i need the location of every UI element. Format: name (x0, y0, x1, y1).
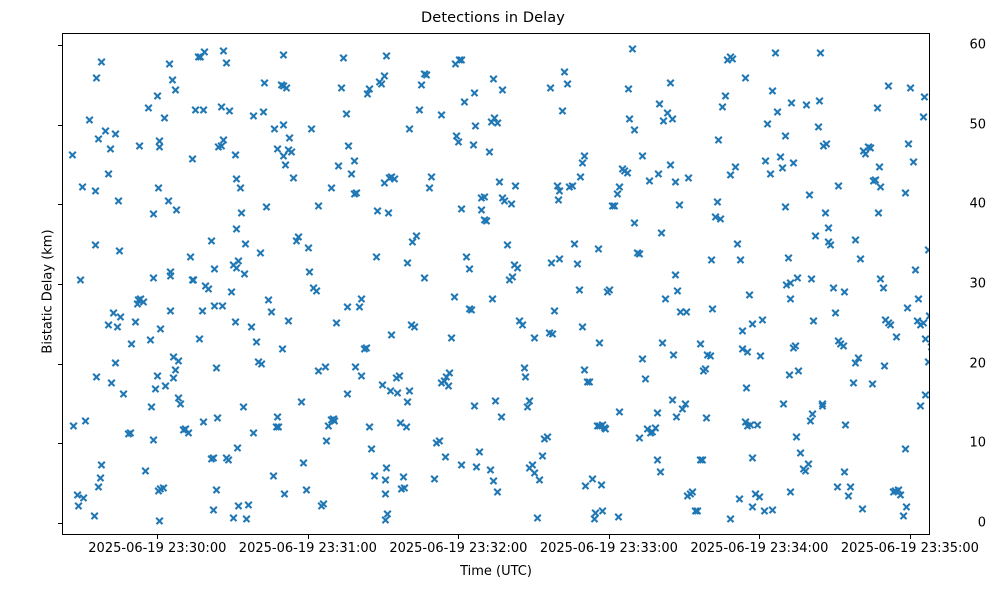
scatter-point (207, 237, 216, 246)
scatter-point (805, 191, 814, 200)
scatter-point (595, 338, 604, 347)
scatter-point (672, 413, 681, 422)
scatter-point (337, 83, 346, 92)
scatter-point (518, 320, 527, 329)
scatter-point (914, 294, 923, 303)
scatter-point (778, 163, 787, 172)
scatter-point (76, 275, 85, 284)
scatter-point (614, 512, 623, 521)
y-tick-label: 30 (942, 277, 986, 292)
scatter-point (171, 85, 180, 94)
scatter-point (437, 110, 446, 119)
scatter-point (372, 253, 381, 262)
scatter-point (231, 317, 240, 326)
scatter-point (736, 255, 745, 264)
scatter-point (728, 54, 737, 63)
scatter-point (269, 471, 278, 480)
scatter-point (390, 175, 399, 184)
scatter-points-layer (63, 34, 929, 534)
scatter-point (332, 318, 341, 327)
scatter-point (793, 273, 802, 282)
scatter-point (104, 169, 113, 178)
scatter-point (330, 417, 339, 426)
scatter-point (873, 103, 882, 112)
scatter-point (212, 485, 221, 494)
scatter-point (229, 513, 238, 522)
scatter-point (924, 245, 930, 254)
scatter-point (74, 501, 83, 510)
scatter-point (658, 338, 667, 347)
scatter-point (485, 147, 494, 156)
scatter-point (422, 70, 431, 79)
scatter-point (776, 152, 785, 161)
scatter-point (624, 84, 633, 93)
scatter-point (921, 390, 930, 399)
scatter-point (274, 422, 283, 431)
scatter-point (236, 183, 245, 192)
scatter-point (174, 393, 183, 402)
scatter-point (400, 484, 409, 493)
scatter-point (573, 260, 582, 269)
scatter-point (681, 399, 690, 408)
scatter-point (472, 462, 481, 471)
scatter-point (111, 129, 120, 138)
scatter-point (782, 281, 791, 290)
y-tick-label: 40 (942, 197, 986, 212)
scatter-point (249, 429, 258, 438)
scatter-point (771, 48, 780, 57)
scatter-point (630, 125, 639, 134)
scatter-point (555, 186, 564, 195)
scatter-point (580, 365, 589, 374)
scatter-point (78, 183, 87, 192)
scatter-point (849, 379, 858, 388)
scatter-point (707, 256, 716, 265)
scatter-point (726, 171, 735, 180)
scatter-point (222, 58, 231, 67)
scatter-point (538, 451, 547, 460)
scatter-point (525, 396, 534, 405)
scatter-point (403, 259, 412, 268)
scatter-point (763, 120, 772, 129)
scatter-point (901, 444, 910, 453)
scatter-point (97, 57, 106, 66)
y-tick-label: 50 (942, 117, 986, 132)
scatter-point (635, 249, 644, 258)
scatter-point (578, 158, 587, 167)
scatter-point (748, 502, 757, 511)
scatter-point (444, 381, 453, 390)
scatter-point (925, 311, 930, 320)
scatter-point (755, 492, 764, 501)
y-tick-mark (58, 443, 62, 444)
scatter-point (119, 390, 128, 399)
scatter-point (470, 88, 479, 97)
scatter-point (841, 421, 850, 430)
scatter-point (73, 490, 82, 499)
scatter-point (809, 316, 818, 325)
scatter-point (242, 515, 251, 524)
scatter-point (585, 378, 594, 387)
scatter-point (454, 137, 463, 146)
scatter-point (533, 513, 542, 522)
scatter-point (733, 239, 742, 248)
x-tick-mark (609, 535, 610, 539)
scatter-point (284, 316, 293, 325)
scatter-point (851, 236, 860, 245)
scatter-point (199, 105, 208, 114)
x-tick-label: 2025-06-19 23:32:00 (389, 541, 527, 556)
scatter-point (668, 395, 677, 404)
scatter-point (758, 316, 767, 325)
y-tick-label: 10 (942, 436, 986, 451)
scatter-point (285, 134, 294, 143)
scatter-point (856, 254, 865, 263)
scatter-point (773, 108, 782, 117)
scatter-point (273, 412, 282, 421)
scatter-point (791, 341, 800, 350)
scatter-point (654, 170, 663, 179)
scatter-point (659, 117, 668, 126)
scatter-point (535, 476, 544, 485)
scatter-point (450, 292, 459, 301)
scatter-point (380, 178, 389, 187)
scatter-point (218, 302, 227, 311)
scatter-point (362, 343, 371, 352)
scatter-point (327, 183, 336, 192)
y-axis-label: Bistatic Delay (km) (41, 202, 56, 382)
scatter-point (219, 47, 228, 56)
scatter-point (116, 312, 125, 321)
scatter-point (210, 264, 219, 273)
scatter-point (713, 197, 722, 206)
scatter-point (347, 169, 356, 178)
scatter-point (768, 505, 777, 514)
scatter-point (467, 305, 476, 314)
scatter-point (151, 384, 160, 393)
scatter-point (377, 80, 386, 89)
scatter-point (441, 452, 450, 461)
scatter-point (352, 188, 361, 197)
scatter-point (493, 118, 502, 127)
scatter-point (802, 101, 811, 110)
scatter-point (486, 466, 495, 475)
scatter-point (147, 402, 156, 411)
scatter-point (570, 239, 579, 248)
plot-area (62, 33, 930, 535)
scatter-point (792, 432, 801, 441)
scatter-point (225, 106, 234, 115)
scatter-point (916, 402, 925, 411)
scatter-point (382, 51, 391, 60)
scatter-point (382, 463, 391, 472)
scatter-point (262, 202, 271, 211)
scatter-point (465, 264, 474, 273)
scatter-point (741, 73, 750, 82)
scatter-point (154, 183, 163, 192)
scatter-point (530, 333, 539, 342)
scatter-point (789, 158, 798, 167)
scatter-point (892, 332, 901, 341)
scatter-point (457, 460, 466, 469)
scatter-point (430, 474, 439, 483)
scatter-point (410, 322, 419, 331)
scatter-point (166, 306, 175, 315)
scatter-point (370, 472, 379, 481)
scatter-point (106, 144, 115, 153)
scatter-point (256, 248, 265, 257)
scatter-point (682, 307, 691, 316)
scatter-point (186, 253, 195, 262)
scatter-point (735, 494, 744, 503)
scatter-point (396, 418, 405, 427)
scatter-point (380, 71, 389, 80)
scatter-point (768, 86, 777, 95)
scatter-point (753, 421, 762, 430)
scatter-point (475, 447, 484, 456)
scatter-point (393, 388, 402, 397)
scatter-point (811, 231, 820, 240)
scatter-point (260, 79, 269, 88)
scatter-point (231, 150, 240, 159)
scatter-point (548, 329, 557, 338)
scatter-point (635, 433, 644, 442)
scatter-point (127, 339, 136, 348)
scatter-point (297, 398, 306, 407)
scatter-point (920, 92, 929, 101)
scatter-point (488, 294, 497, 303)
scatter-point (745, 290, 754, 299)
scatter-point (227, 287, 236, 296)
scatter-point (786, 488, 795, 497)
scatter-point (319, 500, 328, 509)
scatter-point (299, 458, 308, 467)
scatter-point (447, 333, 456, 342)
scatter-point (471, 121, 480, 130)
scatter-point (508, 273, 517, 282)
y-tick-label: 60 (942, 37, 986, 52)
scatter-point (469, 140, 478, 149)
scatter-point (784, 253, 793, 262)
scatter-point (656, 468, 665, 477)
scatter-point (85, 116, 94, 125)
scatter-point (314, 201, 323, 210)
scatter-point (919, 112, 928, 121)
scatter-point (824, 238, 833, 247)
scatter-point (149, 435, 158, 444)
scatter-point (357, 371, 366, 380)
scatter-point (363, 90, 372, 99)
scatter-point (696, 339, 705, 348)
scatter-point (257, 359, 266, 368)
scatter-point (131, 317, 140, 326)
scatter-point (766, 169, 775, 178)
scatter-point (748, 319, 757, 328)
scatter-point (264, 296, 273, 305)
scatter-point (781, 131, 790, 140)
scatter-point (427, 172, 436, 181)
scatter-point (824, 223, 833, 232)
scatter-point (706, 351, 715, 360)
scatter-point (92, 73, 101, 82)
scatter-point (195, 334, 204, 343)
scatter-point (405, 386, 414, 395)
scatter-point (498, 85, 507, 94)
scatter-point (339, 53, 348, 62)
scatter-point (699, 366, 708, 375)
scatter-point (399, 472, 408, 481)
x-tick-label: 2025-06-19 23:34:00 (690, 541, 828, 556)
scatter-point (279, 50, 288, 59)
scatter-point (804, 460, 813, 469)
scatter-point (460, 97, 469, 106)
scatter-point (367, 445, 376, 454)
scatter-point (748, 454, 757, 463)
scatter-point (420, 274, 429, 283)
scatter-point (495, 178, 504, 187)
scatter-point (840, 467, 849, 476)
x-tick-mark (308, 535, 309, 539)
scatter-point (457, 204, 466, 213)
scatter-point (188, 154, 197, 163)
scatter-point (403, 397, 412, 406)
x-axis-label: Time (UTC) (62, 564, 930, 579)
scatter-point (818, 401, 827, 410)
scatter-point (133, 299, 142, 308)
scatter-point (491, 397, 500, 406)
scatter-point (94, 134, 103, 143)
scatter-point (217, 141, 226, 150)
scatter-point (625, 114, 634, 123)
scatter-point (513, 264, 522, 273)
scatter-point (156, 324, 165, 333)
scatter-point (884, 82, 893, 91)
scatter-point (166, 271, 175, 280)
scatter-point (598, 506, 607, 515)
scatter-point (899, 512, 908, 521)
scatter-point (554, 195, 563, 204)
scatter-point (901, 188, 910, 197)
scatter-point (307, 124, 316, 133)
scatter-point (503, 241, 512, 250)
scatter-point (280, 489, 289, 498)
scatter-point (247, 323, 256, 332)
scatter-point (597, 480, 606, 489)
scatter-point (834, 181, 843, 190)
scatter-point (259, 108, 268, 117)
scatter-point (623, 168, 632, 177)
scatter-point (94, 482, 103, 491)
scatter-point (174, 356, 183, 365)
x-tick-label: 2025-06-19 23:35:00 (841, 541, 979, 556)
scatter-point (350, 156, 359, 165)
scatter-point (445, 368, 454, 377)
scatter-point (489, 74, 498, 83)
scatter-point (721, 92, 730, 101)
scatter-point (159, 484, 168, 493)
scatter-point (90, 511, 99, 520)
scatter-point (661, 294, 670, 303)
scatter-point (153, 372, 162, 381)
scatter-point (305, 268, 314, 277)
scatter-point (879, 284, 888, 293)
scatter-point (668, 114, 677, 123)
scatter-point (655, 100, 664, 109)
scatter-point (81, 416, 90, 425)
scatter-point (169, 373, 178, 382)
scatter-point (698, 456, 707, 465)
scatter-point (165, 59, 174, 68)
scatter-point (312, 286, 321, 295)
scatter-point (497, 413, 506, 422)
y-tick-mark (58, 364, 62, 365)
scatter-point (334, 162, 343, 171)
scatter-point (702, 413, 711, 422)
scatter-point (821, 209, 830, 218)
scatter-point (489, 477, 498, 486)
scatter-point (480, 216, 489, 225)
scatter-point (172, 205, 181, 214)
scatter-point (671, 270, 680, 279)
scatter-point (693, 506, 702, 515)
scatter-point (653, 408, 662, 417)
scatter-point (387, 330, 396, 339)
scatter-point (615, 407, 624, 416)
scatter-point (874, 209, 883, 218)
scatter-point (708, 304, 717, 313)
scatter-point (252, 337, 261, 346)
scatter-point (355, 302, 364, 311)
scatter-point (781, 202, 790, 211)
scatter-point (155, 142, 164, 151)
scatter-point (610, 201, 619, 210)
scatter-point (563, 80, 572, 89)
scatter-point (381, 489, 390, 498)
scatter-point (886, 320, 895, 329)
scatter-point (141, 466, 150, 475)
scatter-point (787, 98, 796, 107)
scatter-point (924, 358, 930, 367)
scatter-point (521, 372, 530, 381)
scatter-point (199, 417, 208, 426)
scatter-point (638, 355, 647, 364)
scatter-point (144, 104, 153, 113)
scatter-point (846, 482, 855, 491)
scatter-point (91, 241, 100, 250)
scatter-point (785, 370, 794, 379)
y-tick-label: 20 (942, 356, 986, 371)
scatter-point (578, 322, 587, 331)
scatter-point (289, 174, 298, 183)
scatter-point (234, 501, 243, 510)
scatter-point (543, 432, 552, 441)
scatter-point (657, 228, 666, 237)
scatter-point (451, 59, 460, 68)
scatter-point (868, 379, 877, 388)
x-tick-label: 2025-06-19 23:31:00 (239, 541, 377, 556)
scatter-point (383, 510, 392, 519)
scatter-point (282, 83, 291, 92)
x-tick-mark (157, 535, 158, 539)
scatter-point (555, 254, 564, 263)
scatter-point (718, 103, 727, 112)
y-tick-mark (58, 523, 62, 524)
scatter-point (224, 455, 233, 464)
scatter-point (822, 139, 831, 148)
scatter-point (854, 353, 863, 362)
scatter-point (738, 327, 747, 336)
scatter-point (511, 181, 520, 190)
